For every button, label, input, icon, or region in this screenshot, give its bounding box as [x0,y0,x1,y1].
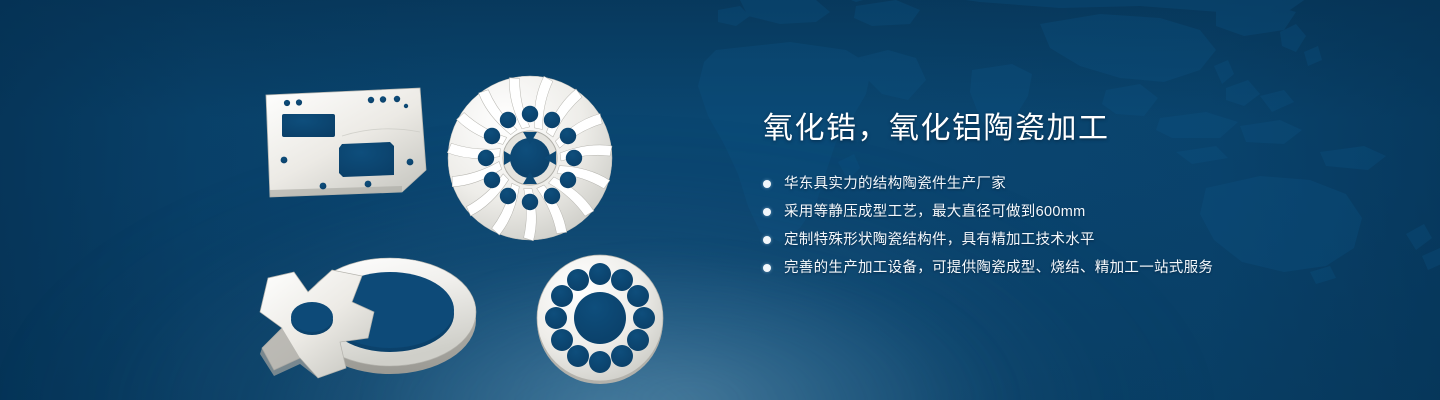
feature-item: 定制特殊形状陶瓷结构件，具有精加工技术水平 [763,228,1383,252]
bullet-dot-icon [763,180,771,188]
banner-headline: 氧化锆，氧化铝陶瓷加工 [763,108,1383,150]
bullet-dot-icon [763,264,771,272]
feature-text: 定制特殊形状陶瓷结构件，具有精加工技术水平 [784,228,1095,252]
product-ceramic-machined-plate [266,88,426,197]
feature-text: 完善的生产加工设备，可提供陶瓷成型、烧结、精加工一站式服务 [784,256,1213,280]
bullet-dot-icon [763,208,771,216]
product-photo-cluster [230,40,710,380]
hero-banner: 氧化锆，氧化铝陶瓷加工 华东具实力的结构陶瓷件生产厂家 采用等静压成型工艺，最大… [0,0,1440,400]
banner-feature-list: 华东具实力的结构陶瓷件生产厂家 采用等静压成型工艺，最大直径可做到600mm 定… [763,172,1383,280]
feature-text: 采用等静压成型工艺，最大直径可做到600mm [784,200,1085,224]
bullet-dot-icon [763,236,771,244]
product-ceramic-impeller-wheel [447,76,612,241]
feature-item: 华东具实力的结构陶瓷件生产厂家 [763,172,1383,196]
banner-copy: 氧化锆，氧化铝陶瓷加工 华东具实力的结构陶瓷件生产厂家 采用等静压成型工艺，最大… [763,108,1383,284]
product-ceramic-perforated-disc [537,255,663,384]
feature-item: 完善的生产加工设备，可提供陶瓷成型、烧结、精加工一站式服务 [763,256,1383,280]
feature-item: 采用等静压成型工艺，最大直径可做到600mm [763,200,1383,224]
feature-text: 华东具实力的结构陶瓷件生产厂家 [784,172,1006,196]
